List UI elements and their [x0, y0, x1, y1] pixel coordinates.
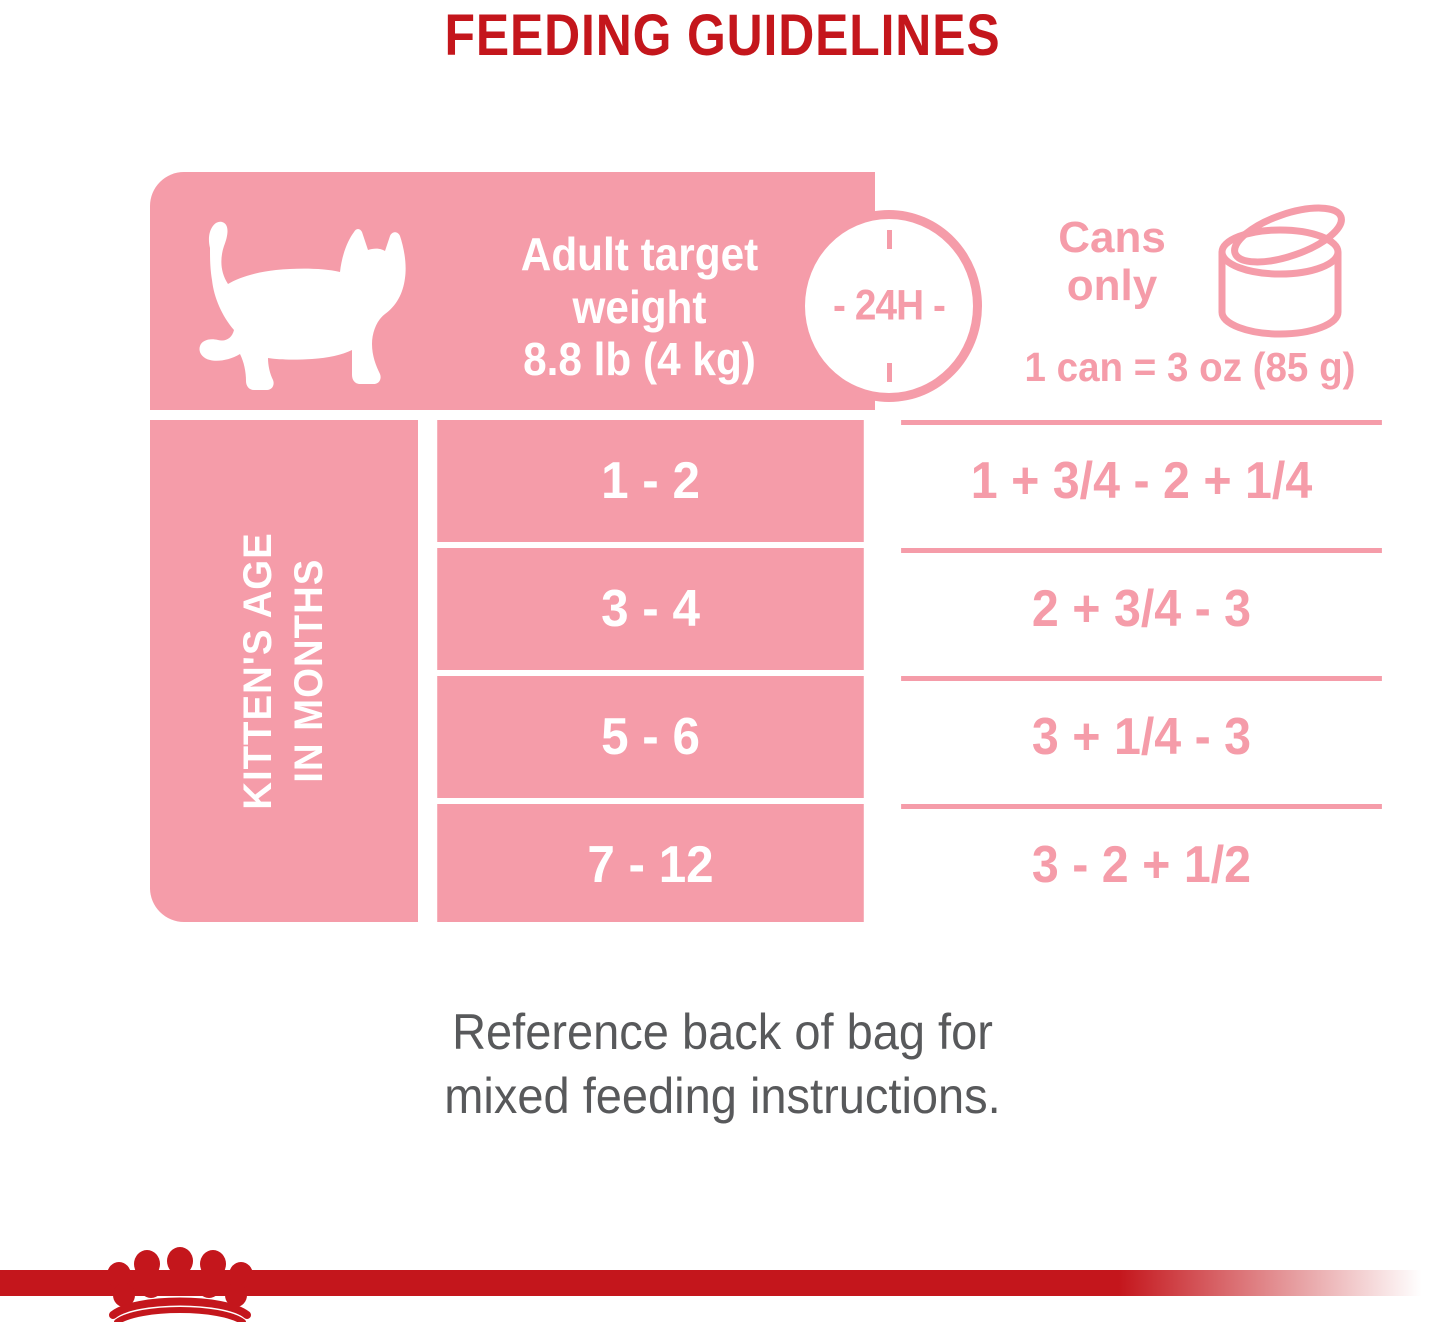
feeding-table-card: Adult target weight 8.8 lb (4 kg) - 24H …	[150, 172, 1400, 922]
clock-tick-bottom	[887, 363, 892, 382]
clock-24h-icon: - 24H -	[796, 210, 982, 402]
row-amount: 2 + 3/4 - 3	[901, 548, 1382, 670]
weight-line-3: 8.8 lb (4 kg)	[523, 333, 756, 385]
cans-only-label: Cans only	[1012, 214, 1212, 311]
clock-tick-top	[887, 230, 892, 249]
cans-line-2: only	[1012, 262, 1212, 310]
page-title: FEEDING GUIDELINES	[101, 2, 1344, 69]
table-row: 1 - 2 1 + 3/4 - 2 + 1/4	[150, 420, 1400, 542]
brand-bar-right	[280, 1270, 1445, 1296]
row-age: 7 - 12	[437, 804, 864, 922]
table-row: 3 - 4 2 + 3/4 - 3	[150, 548, 1400, 670]
royal-canin-crown-icon	[95, 1243, 265, 1322]
cans-line-1: Cans	[1012, 214, 1212, 262]
weight-line-1: Adult target	[521, 228, 758, 280]
table-row: 5 - 6 3 + 1/4 - 3	[150, 676, 1400, 798]
row-amount: 3 - 2 + 1/2	[901, 804, 1382, 922]
footer-note: Reference back of bag for mixed feeding …	[43, 1000, 1401, 1128]
feeding-table-body: KITTEN'S AGE IN MONTHS 1 - 2 1 + 3/4 - 2…	[150, 410, 1400, 922]
open-can-icon	[1200, 200, 1360, 355]
brand-footer-bar	[0, 1245, 1445, 1322]
row-amount: 1 + 3/4 - 2 + 1/4	[901, 420, 1382, 542]
row-age: 3 - 4	[437, 548, 864, 670]
can-equivalence-label: 1 can = 3 oz (85 g)	[1002, 344, 1378, 391]
note-line-2: mixed feeding instructions.	[43, 1064, 1401, 1128]
weight-line-2: weight	[572, 281, 706, 333]
clock-label: - 24H -	[805, 282, 972, 331]
adult-target-weight-label: Adult target weight 8.8 lb (4 kg)	[430, 212, 849, 402]
row-age: 1 - 2	[437, 420, 864, 542]
table-row: 7 - 12 3 - 2 + 1/2	[150, 804, 1400, 922]
note-line-1: Reference back of bag for	[43, 1000, 1401, 1064]
row-age: 5 - 6	[437, 676, 864, 798]
row-amount: 3 + 1/4 - 3	[901, 676, 1382, 798]
kitten-silhouette-icon	[172, 210, 412, 400]
